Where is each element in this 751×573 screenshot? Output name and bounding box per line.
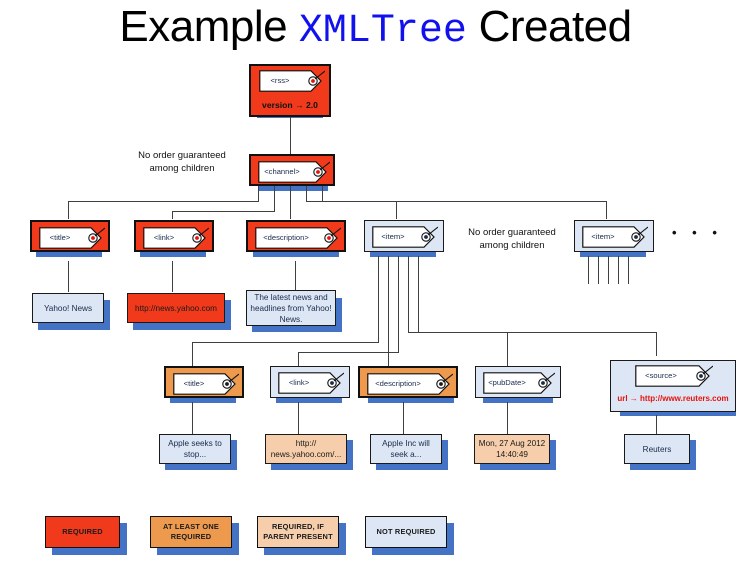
connector-item1-bus-link	[298, 352, 399, 353]
connector-item2-stub-e	[628, 256, 629, 284]
node-l3-description[interactable]: <description>	[358, 366, 458, 398]
tag-shape-l2-item-1: <item>	[372, 226, 438, 248]
connector-rss-channel	[290, 117, 291, 154]
leaf-l3-link-text[interactable]: http:// news.yahoo.com/...	[265, 434, 347, 464]
leaf-description-text[interactable]: The latest news and headlines from Yahoo…	[246, 290, 336, 326]
node-l3-title[interactable]: <title>	[164, 366, 244, 398]
connector-item2-stub-b	[598, 256, 599, 284]
tag-shape-l3-description: <description>	[367, 373, 453, 395]
connector-channel-to-title	[68, 201, 69, 219]
node-l2-description[interactable]: <description>	[246, 220, 346, 252]
tag-shape-l2-description: <description>	[255, 227, 341, 249]
connector-item1-to-description	[388, 342, 389, 366]
connector-item1-stub-e	[418, 256, 419, 332]
annotation-channel-order: No order guaranteed among children	[118, 149, 246, 175]
connector-channel-bus-far	[322, 201, 607, 202]
leaf-l3-source-text[interactable]: Reuters	[624, 434, 690, 464]
connector-channel-stub-b	[274, 185, 275, 211]
node-l2-item-1[interactable]: <item>	[364, 220, 444, 252]
node-l3-link[interactable]: <link>	[270, 366, 350, 398]
tag-shape-l2-title: <title>	[39, 227, 105, 249]
node-rss[interactable]: <rss> version → 2.0	[249, 64, 331, 117]
tag-shape-l3-pubdate: <pubDate>	[483, 372, 555, 394]
legend-item-at-least-one-required[interactable]: AT LEAST ONE REQUIRED	[150, 516, 232, 548]
tag-shape-l2-item-2: <item>	[582, 226, 648, 248]
connector-link-text	[172, 261, 173, 292]
connector-item1-stub-a	[378, 256, 379, 342]
connector-item1-to-link	[298, 352, 299, 366]
leaf-title-text[interactable]: Yahoo! News	[32, 293, 104, 323]
annotation-item-order: No order guaranteed among children	[448, 226, 576, 252]
title-part-2: Created	[467, 2, 632, 51]
leaf-l3-title-text[interactable]: Apple seeks to stop...	[159, 434, 231, 464]
leaf-link-text[interactable]: http://news.yahoo.com	[127, 293, 225, 323]
tag-shape-l2-link: <link>	[143, 227, 209, 249]
connector-l3-title-text	[192, 402, 193, 434]
tag-icon	[367, 373, 453, 395]
connector-channel-to-item2	[606, 201, 607, 219]
tag-icon	[173, 373, 239, 395]
connector-title-text	[68, 261, 69, 292]
node-l2-item-2[interactable]: <item>	[574, 220, 654, 252]
connector-item2-stub-d	[618, 256, 619, 284]
legend-item-required[interactable]: REQUIRED	[45, 516, 120, 548]
connector-channel-bus-left	[68, 201, 259, 202]
connector-channel-stub-a	[258, 185, 259, 201]
connector-description-text	[295, 261, 296, 292]
connector-item2-stub-a	[588, 256, 589, 284]
connector-l3-pubdate-text	[507, 402, 508, 434]
connector-channel-bus-mid	[172, 211, 275, 212]
tag-icon	[483, 372, 555, 394]
tag-icon	[255, 227, 341, 249]
connector-l3-link-text	[298, 402, 299, 434]
connector-item1-bus-title	[192, 342, 379, 343]
connector-channel-stub-c	[290, 185, 291, 219]
tag-shape-l3-title: <title>	[173, 373, 239, 395]
connector-l3-description-text	[403, 402, 404, 434]
leaf-l3-pubdate-text[interactable]: Mon, 27 Aug 2012 14:40:49	[474, 434, 550, 464]
connector-channel-stub-e	[322, 185, 323, 201]
ellipsis-more-items: • • •	[672, 225, 723, 240]
tag-icon	[143, 227, 209, 249]
tag-icon	[259, 70, 325, 92]
connector-item2-stub-c	[608, 256, 609, 284]
tag-icon	[635, 365, 713, 387]
connector-item1-to-pubdate	[507, 332, 508, 366]
node-l3-source[interactable]: <source> url → http://www.reuters.com	[610, 360, 736, 412]
title-mono-xmltree: XMLTree	[299, 9, 467, 54]
node-attr-rss: version → 2.0	[251, 100, 329, 110]
tag-icon	[39, 227, 105, 249]
title-part-1: Example	[119, 2, 298, 51]
connector-item1-stub-c	[398, 256, 399, 352]
tag-shape-channel: <channel>	[258, 161, 330, 183]
node-l2-link[interactable]: <link>	[134, 220, 214, 252]
node-channel[interactable]: <channel>	[249, 154, 335, 186]
slide-canvas: Example XMLTree Created	[0, 0, 751, 573]
connector-channel-stub-d	[306, 185, 307, 201]
legend-item-not-required[interactable]: NOT REQUIRED	[365, 516, 447, 548]
connector-channel-to-link	[172, 211, 173, 219]
tag-icon	[582, 226, 648, 248]
tag-shape-rss: <rss>	[259, 70, 325, 92]
tag-icon	[258, 161, 330, 183]
connector-channel-to-item1	[396, 201, 397, 219]
connector-l3-source-text	[656, 415, 657, 434]
connector-item1-bus-source	[418, 332, 656, 333]
connector-item1-to-source	[656, 332, 657, 356]
leaf-l3-description-text[interactable]: Apple Inc will seek a...	[370, 434, 442, 464]
node-l3-pubdate[interactable]: <pubDate>	[475, 366, 561, 398]
tag-icon	[372, 226, 438, 248]
page-title: Example XMLTree Created	[0, 2, 751, 54]
tag-icon	[278, 372, 344, 394]
connector-item1-to-title	[192, 342, 193, 366]
node-attr-source: url → http://www.reuters.com	[611, 394, 735, 403]
tag-shape-l3-source: <source>	[635, 365, 713, 387]
node-l2-title[interactable]: <title>	[30, 220, 110, 252]
legend-item-required-if-parent-present[interactable]: REQUIRED, IF PARENT PRESENT	[257, 516, 339, 548]
tag-shape-l3-link: <link>	[278, 372, 344, 394]
connector-item1-stub-d	[408, 256, 409, 332]
